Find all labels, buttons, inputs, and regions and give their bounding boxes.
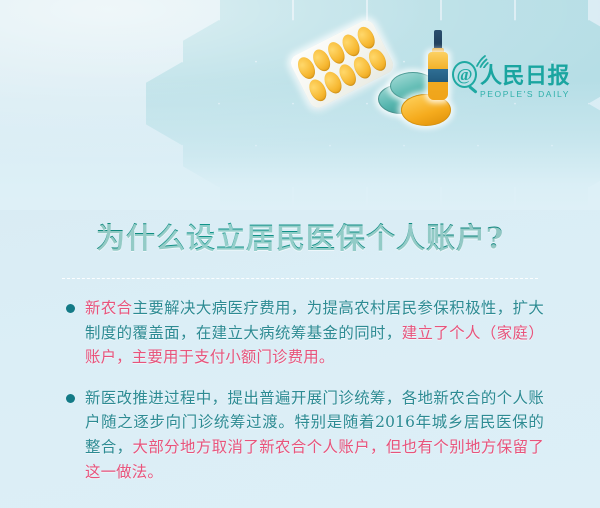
body-copy: 新农合主要解决大病医疗费用，为提高农村居民参保积极性，扩大制度的覆盖面，在建立大…	[66, 296, 544, 500]
hexagon-fade-overlay	[0, 0, 600, 210]
infographic-poster: @ 人民日报 PEOPLE'S DAILY 为什么设立居民医保个人账户? 新农合…	[0, 0, 600, 508]
paragraph-1-text: 新农合主要解决大病医疗费用，为提高农村居民参保积极性，扩大制度的覆盖面，在建立大…	[85, 299, 544, 366]
title-divider	[62, 278, 538, 279]
text-run-highlight: 新农合	[85, 299, 133, 317]
at-symbol-glyph: @	[457, 65, 473, 84]
paragraph-2: 新医改推进过程中，提出普遍开展门诊统筹，各地新农合的个人账户随之逐步向门诊统筹过…	[66, 386, 544, 484]
at-symbol-icon: @	[452, 61, 477, 88]
bullet-point-icon	[66, 304, 75, 313]
signal-waves-icon	[474, 54, 490, 68]
paragraph-1: 新农合主要解决大病医疗费用，为提高农村居民参保积极性，扩大制度的覆盖面，在建立大…	[66, 296, 544, 370]
logo-chinese-name: 人民日报	[480, 65, 570, 88]
header-sheen	[0, 0, 600, 230]
logo-english-name: PEOPLE'S DAILY	[480, 89, 570, 99]
bullet-point-icon	[66, 394, 75, 403]
text-run-highlight: 大部分地方取消了新农合个人账户，但也有个别地方保留了这一做法。	[85, 438, 544, 481]
paragraph-2-text: 新医改推进过程中，提出普遍开展门诊统筹，各地新农合的个人账户随之逐步向门诊统筹过…	[85, 389, 544, 481]
dropper-bottle-icon	[427, 30, 449, 102]
page-title: 为什么设立居民医保个人账户?	[0, 215, 600, 257]
hexagon-pattern-background	[0, 0, 600, 210]
peoples-daily-logo: @ 人民日报 PEOPLE'S DAILY	[452, 61, 570, 105]
